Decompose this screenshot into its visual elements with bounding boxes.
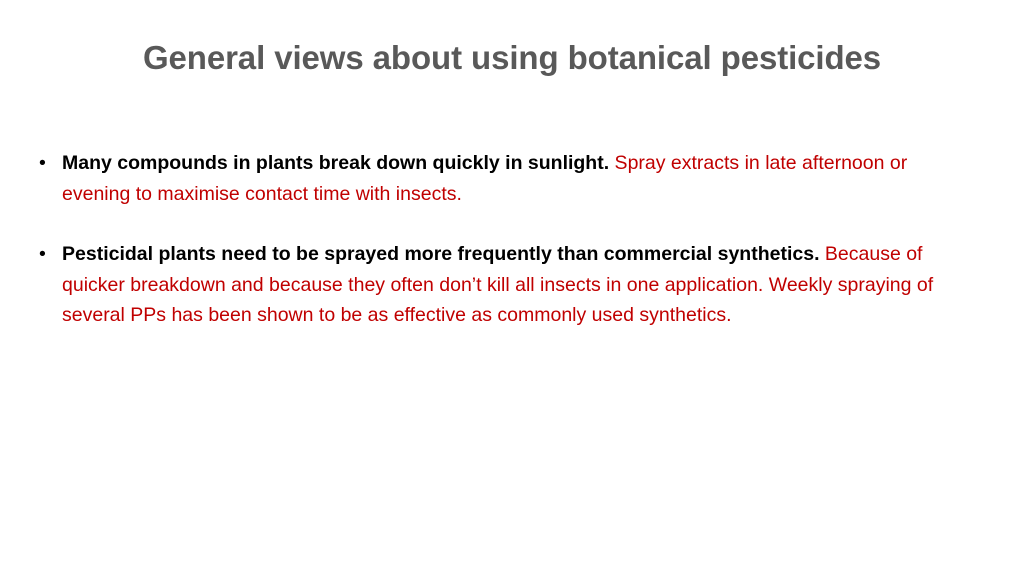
slide-body-content: • Many compounds in plants break down qu… (30, 148, 978, 331)
bullet-lead-in-text: Pesticidal plants need to be sprayed mor… (62, 243, 819, 265)
bullet-lead-in-text: Many compounds in plants break down quic… (62, 152, 609, 174)
bullet-point-icon: • (39, 239, 46, 270)
list-item: • Many compounds in plants break down qu… (30, 148, 978, 209)
presentation-slide: General views about using botanical pest… (0, 0, 1024, 576)
list-item: • Pesticidal plants need to be sprayed m… (30, 239, 978, 331)
page-title: General views about using botanical pest… (0, 38, 1024, 78)
bullet-point-icon: • (39, 148, 46, 179)
